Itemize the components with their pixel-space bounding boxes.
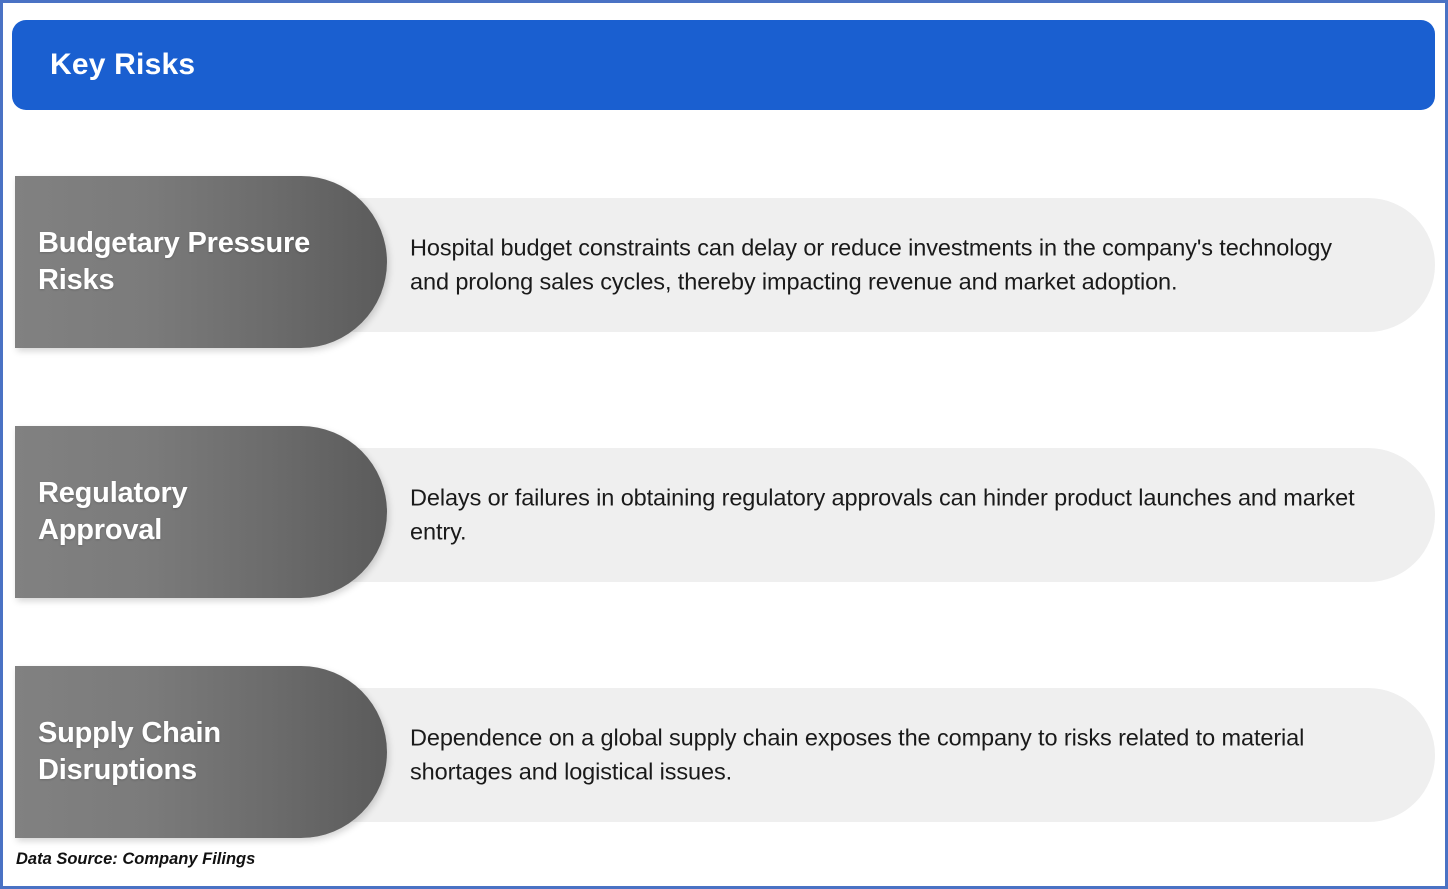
page-title: Key Risks [12, 48, 195, 82]
risk-label: Regulatory Approval [15, 475, 387, 549]
risk-label-pill: Budgetary Pressure Risks [15, 176, 387, 348]
data-source-note: Data Source: Company Filings [16, 850, 255, 869]
risk-description: Delays or failures in obtaining regulato… [410, 481, 1375, 550]
risk-label-pill: Supply Chain Disruptions [15, 666, 387, 838]
risk-description: Dependence on a global supply chain expo… [410, 721, 1375, 790]
risk-label: Budgetary Pressure Risks [15, 225, 387, 299]
header-bar: Key Risks [12, 20, 1435, 110]
risk-row: Delays or failures in obtaining regulato… [12, 423, 1438, 601]
risk-row: Dependence on a global supply chain expo… [12, 663, 1438, 841]
risk-row: Hospital budget constraints can delay or… [12, 173, 1438, 351]
risk-label: Supply Chain Disruptions [15, 715, 387, 789]
risk-description: Hospital budget constraints can delay or… [410, 231, 1335, 300]
infographic-canvas: Key Risks Hospital budget constraints ca… [0, 0, 1448, 889]
risk-label-pill: Regulatory Approval [15, 426, 387, 598]
